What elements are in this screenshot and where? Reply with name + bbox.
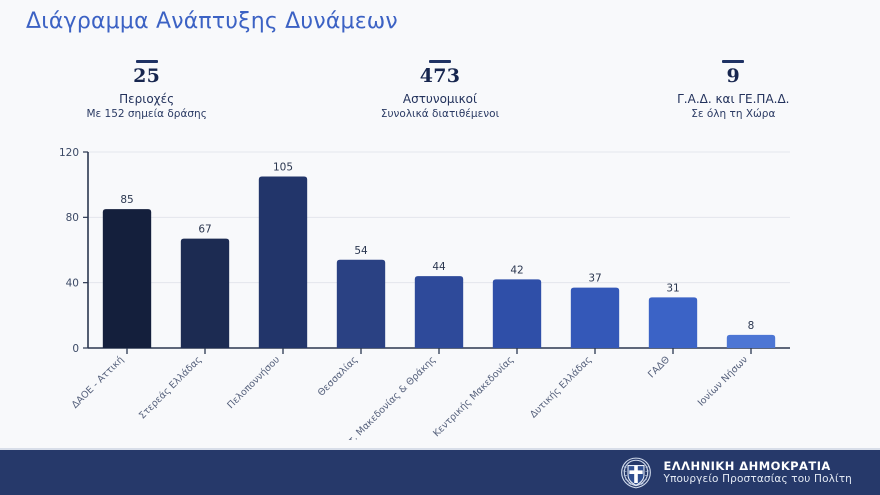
- bar-value-label: 85: [120, 194, 133, 206]
- x-axis-category-label: Ιονίων Νήσων: [696, 354, 750, 408]
- bar-chart-canvas: 0408012085ΔΑΟΕ - Αττική67Στερεάς Ελλάδας…: [0, 140, 880, 440]
- bar-value-label: 8: [748, 320, 755, 332]
- kpi-value: 25: [133, 66, 160, 87]
- bar[interactable]: [649, 297, 697, 348]
- bar[interactable]: [181, 239, 229, 348]
- y-axis-tick-label: 80: [66, 212, 79, 224]
- bar-value-label: 42: [510, 264, 523, 276]
- x-axis-category-label: Θεσσαλίας: [316, 354, 360, 398]
- bar[interactable]: [103, 209, 151, 348]
- kpi-label: Αστυνομικοί: [403, 91, 477, 107]
- kpi-sublabel: Σε όλη τη Χώρα: [691, 107, 775, 121]
- kpi-item-officers: 473 Αστυνομικοί Συνολικά διατιθέμενοι: [293, 60, 586, 132]
- footer-title: ΕΛΛΗΝΙΚΗ ΔΗΜΟΚΡΑΤΙΑ: [664, 460, 853, 474]
- x-axis-category-label: Δυτικής Ελλάδας: [528, 354, 594, 420]
- bar-value-label: 44: [432, 261, 446, 273]
- kpi-value: 473: [420, 66, 461, 87]
- page-title: Διάγραμμα Ανάπτυξης Δυνάμεων: [26, 9, 398, 34]
- kpi-dash-icon: [722, 60, 744, 63]
- footer-text: ΕΛΛΗΝΙΚΗ ΔΗΜΟΚΡΑΤΙΑ Υπουργείο Προστασίας…: [664, 460, 853, 486]
- y-axis-tick-label: 0: [72, 343, 79, 355]
- y-axis-tick-label: 40: [66, 277, 79, 289]
- kpi-value: 9: [727, 66, 741, 87]
- kpi-dash-icon: [136, 60, 158, 63]
- bar[interactable]: [259, 177, 307, 349]
- kpi-sublabel: Συνολικά διατιθέμενοι: [381, 107, 499, 121]
- kpi-item-directorates: 9 Γ.Α.Δ. και ΓΕ.ΠΑ.Δ. Σε όλη τη Χώρα: [587, 60, 880, 132]
- bar[interactable]: [415, 276, 463, 348]
- kpi-sublabel: Με 152 σημεία δράσης: [86, 107, 206, 121]
- greek-coat-of-arms-icon: [619, 456, 653, 490]
- x-axis-category-label: ΔΑΟΕ - Αττική: [70, 354, 126, 410]
- kpi-dash-icon: [429, 60, 451, 63]
- x-axis-category-label: ΓΑΔΘ: [646, 354, 672, 380]
- kpi-row: 25 Περιοχές Με 152 σημεία δράσης 473 Αστ…: [0, 60, 880, 132]
- kpi-item-regions: 25 Περιοχές Με 152 σημεία δράσης: [0, 60, 293, 132]
- kpi-label: Γ.Α.Δ. και ΓΕ.ΠΑ.Δ.: [677, 91, 789, 107]
- bar-value-label: 54: [354, 245, 368, 257]
- footer-bar: ΕΛΛΗΝΙΚΗ ΔΗΜΟΚΡΑΤΙΑ Υπουργείο Προστασίας…: [0, 448, 880, 495]
- bar-value-label: 105: [273, 162, 293, 174]
- bar-value-label: 31: [666, 282, 679, 294]
- bar-value-label: 37: [588, 273, 601, 285]
- x-axis-category-label: Πελοποννήσου: [225, 354, 282, 411]
- bar-chart: 0408012085ΔΑΟΕ - Αττική67Στερεάς Ελλάδας…: [0, 140, 880, 440]
- footer-subtitle: Υπουργείο Προστασίας του Πολίτη: [664, 473, 853, 485]
- bar[interactable]: [727, 335, 775, 348]
- x-axis-category-label: Στερεάς Ελλάδας: [137, 354, 204, 421]
- slide-root: Διάγραμμα Ανάπτυξης Δυνάμεων 25 Περιοχές…: [0, 0, 880, 495]
- bar[interactable]: [337, 260, 385, 348]
- bar-value-label: 67: [198, 224, 211, 236]
- y-axis-tick-label: 120: [59, 147, 79, 159]
- x-axis-category-label: Κεντρικής Μακεδονίας: [431, 354, 516, 439]
- bar[interactable]: [493, 279, 541, 348]
- kpi-label: Περιοχές: [119, 91, 174, 107]
- footer-brand: ΕΛΛΗΝΙΚΗ ΔΗΜΟΚΡΑΤΙΑ Υπουργείο Προστασίας…: [619, 456, 853, 490]
- bar[interactable]: [571, 288, 619, 348]
